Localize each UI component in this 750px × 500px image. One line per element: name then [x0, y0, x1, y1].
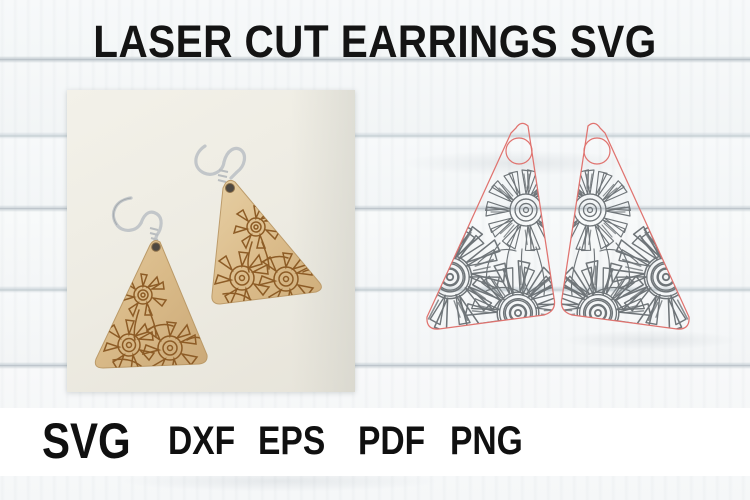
product-photo: [67, 90, 355, 392]
right-piece-hole: [584, 138, 610, 164]
right-cut-piece: [540, 123, 750, 370]
right-earring-body: [212, 180, 322, 304]
page-title: LASER CUT EARRINGS SVG: [38, 18, 713, 65]
left-cut-piece: [364, 123, 576, 370]
canvas-background: LASER CUT EARRINGS SVG: [0, 0, 750, 500]
right-earring: [187, 132, 355, 332]
format-label-dxf: DXF: [168, 421, 235, 461]
svg-cut-file-preview: [378, 95, 738, 395]
format-label-svg: SVG: [42, 416, 131, 466]
format-label-eps: EPS: [258, 421, 325, 461]
format-label-pdf: PDF: [358, 421, 425, 461]
format-bar: SVG DXF EPS PDF PNG DESIGN: [0, 408, 750, 476]
left-piece-hole: [506, 138, 532, 164]
right-piece-engrave-lines: [540, 165, 750, 370]
right-earring-hook: [196, 146, 245, 178]
format-label-png: PNG: [450, 421, 523, 461]
left-piece-engrave-lines: [364, 165, 576, 370]
